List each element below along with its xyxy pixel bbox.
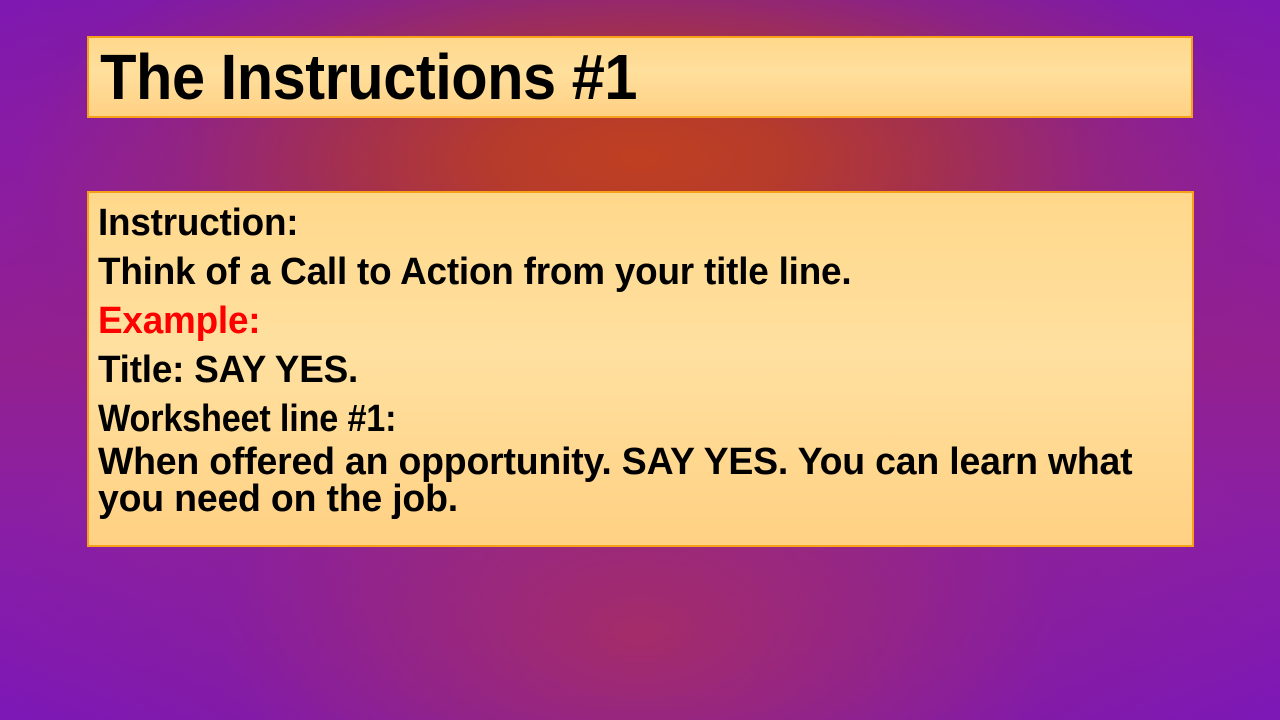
body-line-example-title: Title: SAY YES. bbox=[98, 346, 1151, 395]
page-title: The Instructions #1 bbox=[89, 44, 637, 110]
body-line-instruction-label: Instruction: bbox=[98, 199, 1151, 248]
body-line-instruction-text: Think of a Call to Action from your titl… bbox=[98, 248, 1151, 297]
body-paragraph-worksheet-answer: When offered an opportunity. SAY YES. Yo… bbox=[98, 444, 1157, 518]
instruction-body-box: Instruction: Think of a Call to Action f… bbox=[87, 191, 1194, 547]
body-line-example-label: Example: bbox=[98, 297, 1151, 346]
slide-canvas: The Instructions #1 Instruction: Think o… bbox=[0, 0, 1280, 720]
body-line-worksheet-label: Worksheet line #1: bbox=[98, 395, 1075, 444]
title-box: The Instructions #1 bbox=[87, 36, 1193, 118]
